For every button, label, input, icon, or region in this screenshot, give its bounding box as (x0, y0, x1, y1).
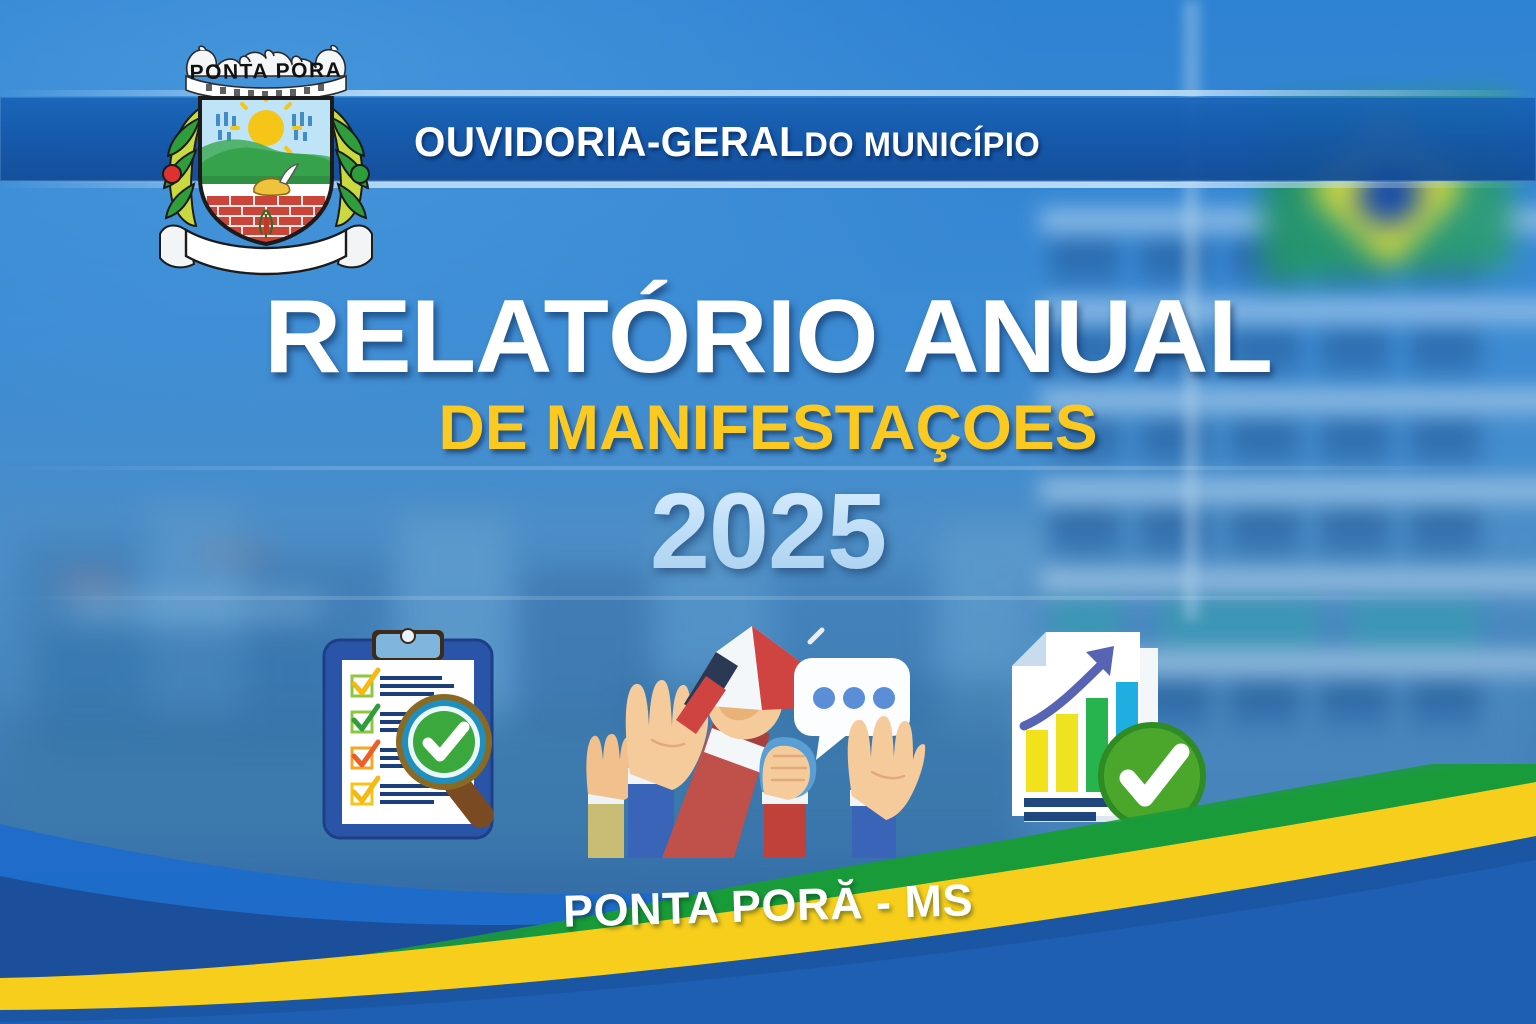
report-cover: OUVIDORIA-GERALDO MUNICÍPIO (0, 0, 1536, 1024)
page-subtitle: DE MANIFESTAÇOES (0, 392, 1536, 464)
page-year: 2025 (0, 468, 1536, 593)
header-title-small: DO MUNICÍPIO (804, 126, 1040, 164)
ribbon-banner (158, 214, 374, 282)
header-title-strong: OUVIDORIA-GERAL (414, 118, 804, 165)
page-title: RELATÓRIO ANUAL (0, 278, 1536, 397)
crest-ribbon-text: PONTA PORA (150, 58, 382, 86)
header-title: OUVIDORIA-GERALDO MUNICÍPIO (414, 118, 1040, 166)
coat-of-arms: PONTA PORA (150, 36, 382, 276)
